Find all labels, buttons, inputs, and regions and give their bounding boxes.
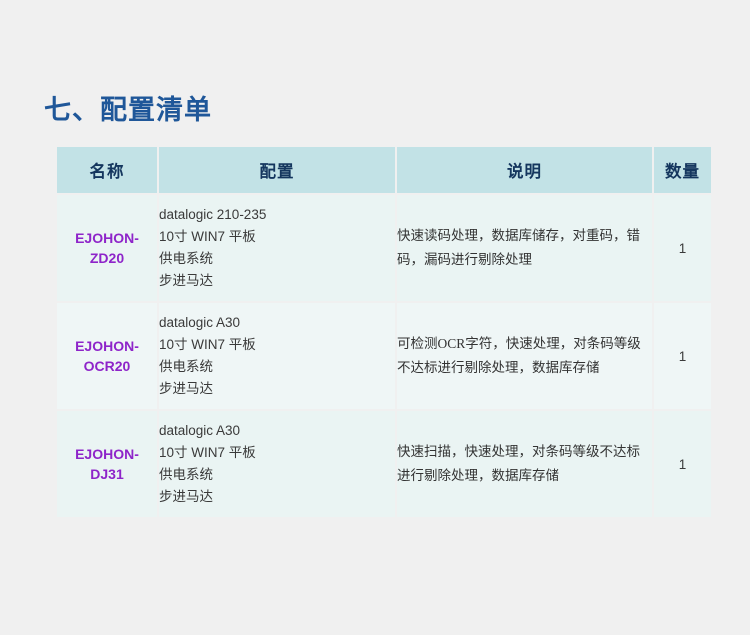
table-row: EJOHON- DJ31 datalogic A30 10寸 WIN7 平板 供… [57,411,711,517]
table-header-row: 名称 配置 说明 数量 [57,147,711,193]
quantity-cell: 1 [654,303,711,409]
config-line-1: datalogic 210-235 [159,204,395,226]
config-line-4: 步进马达 [159,486,395,508]
product-name-cell: EJOHON- ZD20 [57,195,157,301]
config-line-1: datalogic A30 [159,420,395,442]
product-name-line-1: EJOHON- [75,338,139,354]
table-row: EJOHON- OCR20 datalogic A30 10寸 WIN7 平板 … [57,303,711,409]
column-header-description: 说明 [397,147,652,193]
config-line-2: 10寸 WIN7 平板 [159,226,395,248]
configuration-list-table: 名称 配置 说明 数量 EJOHON- ZD20 datalogic 210-2… [55,145,713,519]
config-line-3: 供电系统 [159,248,395,270]
quantity-cell: 1 [654,195,711,301]
document-page: 七、配置清单 名称 配置 说明 数量 EJOHON- ZD20 [0,0,750,635]
product-name-line-2: OCR20 [84,358,131,374]
column-header-config: 配置 [159,147,395,193]
config-line-2: 10寸 WIN7 平板 [159,334,395,356]
table-header: 名称 配置 说明 数量 [57,147,711,193]
column-header-name: 名称 [57,147,157,193]
configuration-cell: datalogic A30 10寸 WIN7 平板 供电系统 步进马达 [159,303,395,409]
page-title: 七、配置清单 [44,88,212,127]
column-header-quantity: 数量 [654,147,711,193]
description-cell: 快速扫描，快速处理，对条码等级不达标进行剔除处理，数据库存储 [397,411,652,517]
configuration-cell: datalogic A30 10寸 WIN7 平板 供电系统 步进马达 [159,411,395,517]
product-name-line-1: EJOHON- [75,446,139,462]
product-name-line-2: ZD20 [90,250,124,266]
table-row: EJOHON- ZD20 datalogic 210-235 10寸 WIN7 … [57,195,711,301]
config-line-3: 供电系统 [159,464,395,486]
table-body: EJOHON- ZD20 datalogic 210-235 10寸 WIN7 … [57,195,711,517]
product-name-line-2: DJ31 [90,466,123,482]
product-name-cell: EJOHON- OCR20 [57,303,157,409]
quantity-cell: 1 [654,411,711,517]
product-name-cell: EJOHON- DJ31 [57,411,157,517]
description-cell: 快速读码处理，数据库储存，对重码，错码，漏码进行剔除处理 [397,195,652,301]
product-name-line-1: EJOHON- [75,230,139,246]
config-line-1: datalogic A30 [159,312,395,334]
config-line-4: 步进马达 [159,270,395,292]
config-line-3: 供电系统 [159,356,395,378]
config-line-4: 步进马达 [159,378,395,400]
configuration-cell: datalogic 210-235 10寸 WIN7 平板 供电系统 步进马达 [159,195,395,301]
config-line-2: 10寸 WIN7 平板 [159,442,395,464]
description-cell: 可检测OCR字符，快速处理，对条码等级不达标进行剔除处理，数据库存储 [397,303,652,409]
